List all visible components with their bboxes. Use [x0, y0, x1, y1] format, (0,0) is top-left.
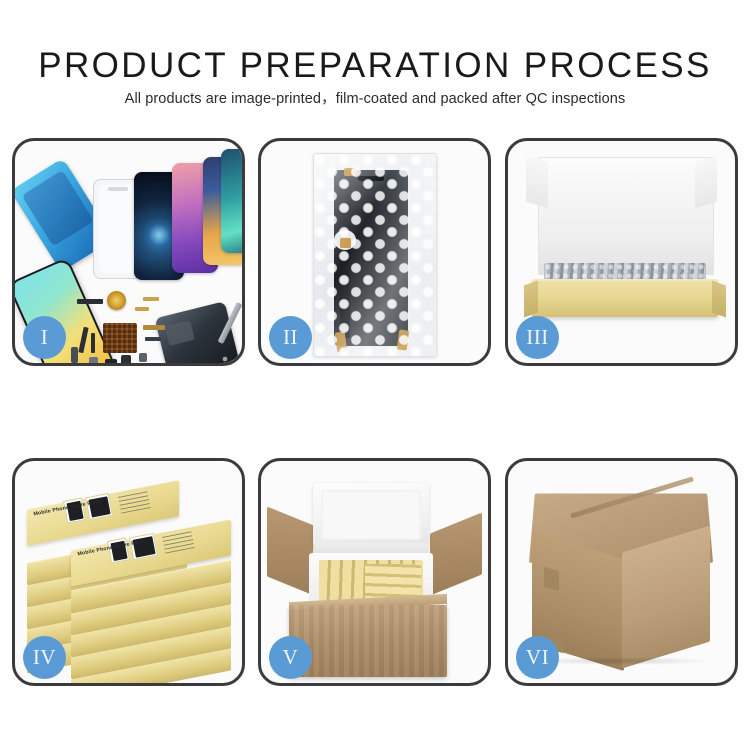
- step-badge: III: [516, 316, 559, 359]
- step-badge: II: [269, 316, 312, 359]
- process-step-4: Mobile Phone Spare Parts Mobile Phone Sp…: [12, 458, 245, 686]
- foam-lid-icon: [313, 483, 429, 547]
- white-box-lid-icon: [538, 157, 714, 275]
- teal-phone-icon: [221, 149, 242, 253]
- plastic-sheen: [314, 154, 436, 356]
- step-panel: II: [258, 138, 491, 366]
- part-icon: [105, 359, 117, 363]
- step-panel: VI: [505, 458, 738, 686]
- speaker-coil-icon: [107, 291, 126, 310]
- step-badge: VI: [516, 636, 559, 679]
- process-step-grid: I II: [12, 138, 738, 686]
- process-step-1: I: [12, 138, 245, 366]
- lid-flap-icon: [526, 156, 548, 208]
- process-step-2: II: [258, 138, 491, 366]
- screws-icon: [221, 355, 242, 363]
- part-icon: [145, 337, 161, 341]
- part-icon: [143, 297, 159, 301]
- chip-grid-icon: [103, 323, 137, 353]
- part-icon: [89, 357, 98, 363]
- step-badge: V: [269, 636, 312, 679]
- step-panel: III: [505, 138, 738, 366]
- product-preparation-infographic: PRODUCT PREPARATION PROCESS All products…: [0, 0, 750, 750]
- part-icon: [139, 353, 147, 362]
- part-icon: [135, 307, 149, 311]
- carton-body-icon: [289, 605, 447, 677]
- yellow-box-base-icon: [532, 281, 718, 317]
- part-icon: [91, 333, 95, 353]
- carton-flap-icon: [430, 512, 482, 595]
- part-icon: [143, 325, 165, 330]
- part-icon: [71, 347, 78, 363]
- step-badge: I: [23, 316, 66, 359]
- process-step-3: III: [505, 138, 738, 366]
- drop-shadow: [532, 657, 712, 665]
- tape-icon: [544, 567, 559, 592]
- page-title: PRODUCT PREPARATION PROCESS: [0, 48, 750, 83]
- part-icon: [77, 299, 103, 304]
- process-step-5: V: [258, 458, 491, 686]
- step-panel: V: [258, 458, 491, 686]
- step-panel: Mobile Phone Spare Parts Mobile Phone Sp…: [12, 458, 245, 686]
- step-panel: I: [12, 138, 245, 366]
- step-badge: IV: [23, 636, 66, 679]
- page-subtitle: All products are image-printed，film-coat…: [0, 92, 750, 107]
- bubble-wrap-bag-icon: [313, 153, 437, 357]
- process-step-6: VI: [505, 458, 738, 686]
- lid-flap-icon: [695, 156, 717, 208]
- part-icon: [121, 355, 131, 363]
